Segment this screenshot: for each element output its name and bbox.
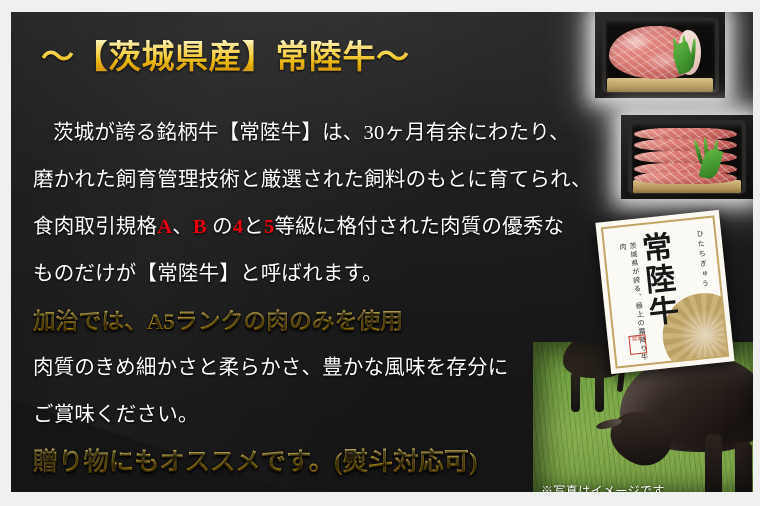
grade-a: A xyxy=(157,216,172,238)
grade-4: 4 xyxy=(233,216,243,238)
hitachi-gyu-certificate: ひたちぎゅう 常陸牛 茨城県が誇る、極上の霜降り牛肉 認定 xyxy=(595,210,734,374)
highlight-line-a5: 加治では、A5ランクの肉のみを使用 xyxy=(33,298,613,345)
grade-text-3: の xyxy=(207,216,233,238)
cow-leg xyxy=(705,434,722,492)
highlight-line-gift: 贈り物にもオススメです。(熨斗対応可) xyxy=(33,439,613,486)
body-line-4: ものだけが【常陸牛】と呼ばれます。 xyxy=(33,251,613,298)
green-garnish-icon xyxy=(676,33,710,75)
body-line-1: 茨城が誇る銘柄牛【常陸牛】は、30ヶ月有余にわたり、 xyxy=(33,110,613,157)
body-line-2: 磨かれた飼育管理技術と厳選された飼料のもとに育てられ、 xyxy=(33,157,613,204)
body-copy: 茨城が誇る銘柄牛【常陸牛】は、30ヶ月有余にわたり、 磨かれた飼育管理技術と厳選… xyxy=(33,110,613,486)
grade-text-1: 食肉取引規格 xyxy=(33,216,157,238)
grade-b: B xyxy=(193,216,207,238)
grade-text-4: と xyxy=(243,216,264,238)
slices-tray xyxy=(621,115,753,199)
body-line-5: 肉質のきめ細かさと柔らかさ、豊かな風味を存分に xyxy=(33,345,613,392)
poster-stage: 〜【茨城県産】常陸牛〜 茨城が誇る銘柄牛【常陸牛】は、30ヶ月有余にわたり、 磨… xyxy=(0,0,760,506)
grade-text-5: 等級に格付された肉質の優秀な xyxy=(274,216,564,238)
red-seal-stamp: 認定 xyxy=(628,334,647,355)
steak-tray xyxy=(595,12,725,98)
black-panel: 〜【茨城県産】常陸牛〜 茨城が誇る銘柄牛【常陸牛】は、30ヶ月有余にわたり、 磨… xyxy=(11,12,753,492)
grade-5: 5 xyxy=(264,216,274,238)
certificate-inner-frame: ひたちぎゅう 常陸牛 茨城県が誇る、極上の霜降り牛肉 認定 xyxy=(601,215,729,368)
grade-text-2: 、 xyxy=(172,216,193,238)
sliced-beef-photo xyxy=(621,115,753,199)
body-line-6: ご賞味ください。 xyxy=(33,392,613,439)
steak-photo xyxy=(595,12,725,98)
tray-wood-mat xyxy=(607,78,714,92)
cow-leg xyxy=(735,442,752,492)
certificate-ruby-text: ひたちぎゅう xyxy=(695,230,711,291)
page-title: 〜【茨城県産】常陸牛〜 xyxy=(41,40,410,76)
green-garnish-icon xyxy=(698,137,732,177)
body-line-3: 食肉取引規格A、B の4と5等級に格付された肉質の優秀な xyxy=(33,204,613,251)
